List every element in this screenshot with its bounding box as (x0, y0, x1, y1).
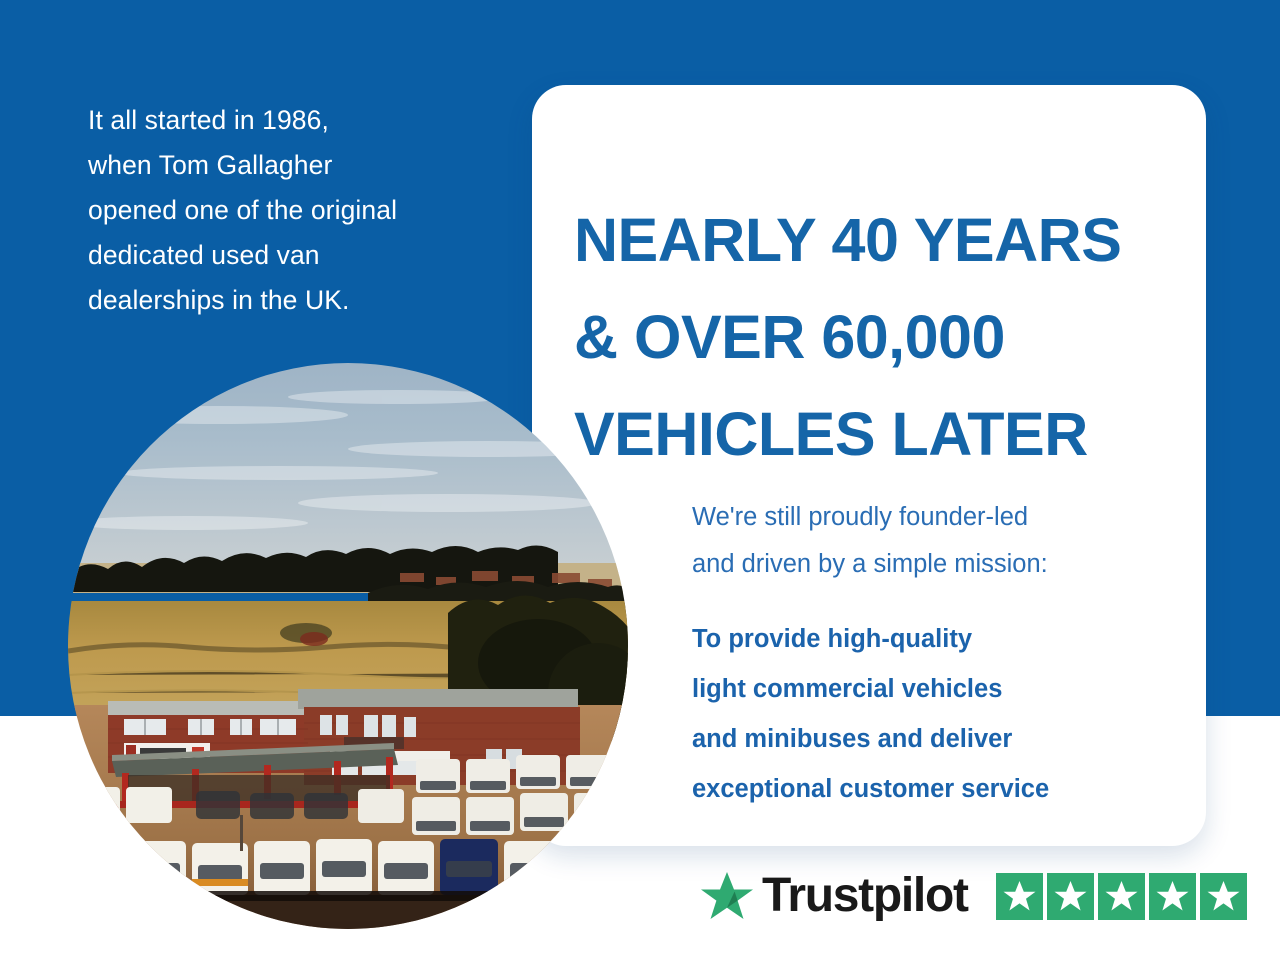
trustpilot-star-rating[interactable] (996, 873, 1247, 920)
rating-star-2[interactable] (1047, 873, 1094, 920)
star-icon (1156, 880, 1189, 912)
trustpilot-wordmark: Trustpilot (762, 872, 968, 920)
promo-graphic: It all started in 1986, when Tom Gallagh… (0, 0, 1280, 960)
card-inner: NEARLY 40 YEARS & OVER 60,000 VEHICLES L… (532, 85, 1206, 846)
content-card: NEARLY 40 YEARS & OVER 60,000 VEHICLES L… (532, 85, 1206, 846)
star-icon (1105, 880, 1138, 912)
rating-star-5[interactable] (1200, 873, 1247, 920)
intro-paragraph: It all started in 1986, when Tom Gallagh… (88, 98, 488, 323)
dealership-photo (68, 363, 628, 929)
mission-statement: To provide high-quality light commercial… (692, 614, 1192, 814)
lead-paragraph: We're still proudly founder-led and driv… (692, 494, 1192, 588)
trustpilot-rating[interactable]: Trustpilot (700, 866, 1247, 926)
rating-star-1[interactable] (996, 873, 1043, 920)
dealership-photo-illustration (68, 363, 628, 929)
rating-star-4[interactable] (1149, 873, 1196, 920)
trustpilot-star-icon (700, 870, 754, 922)
page-title: NEARLY 40 YEARS & OVER 60,000 VEHICLES L… (574, 192, 1194, 483)
trustpilot-logo[interactable]: Trustpilot (700, 870, 968, 922)
rating-star-3[interactable] (1098, 873, 1145, 920)
star-icon (1207, 880, 1240, 912)
star-icon (1003, 880, 1036, 912)
star-icon (1054, 880, 1087, 912)
